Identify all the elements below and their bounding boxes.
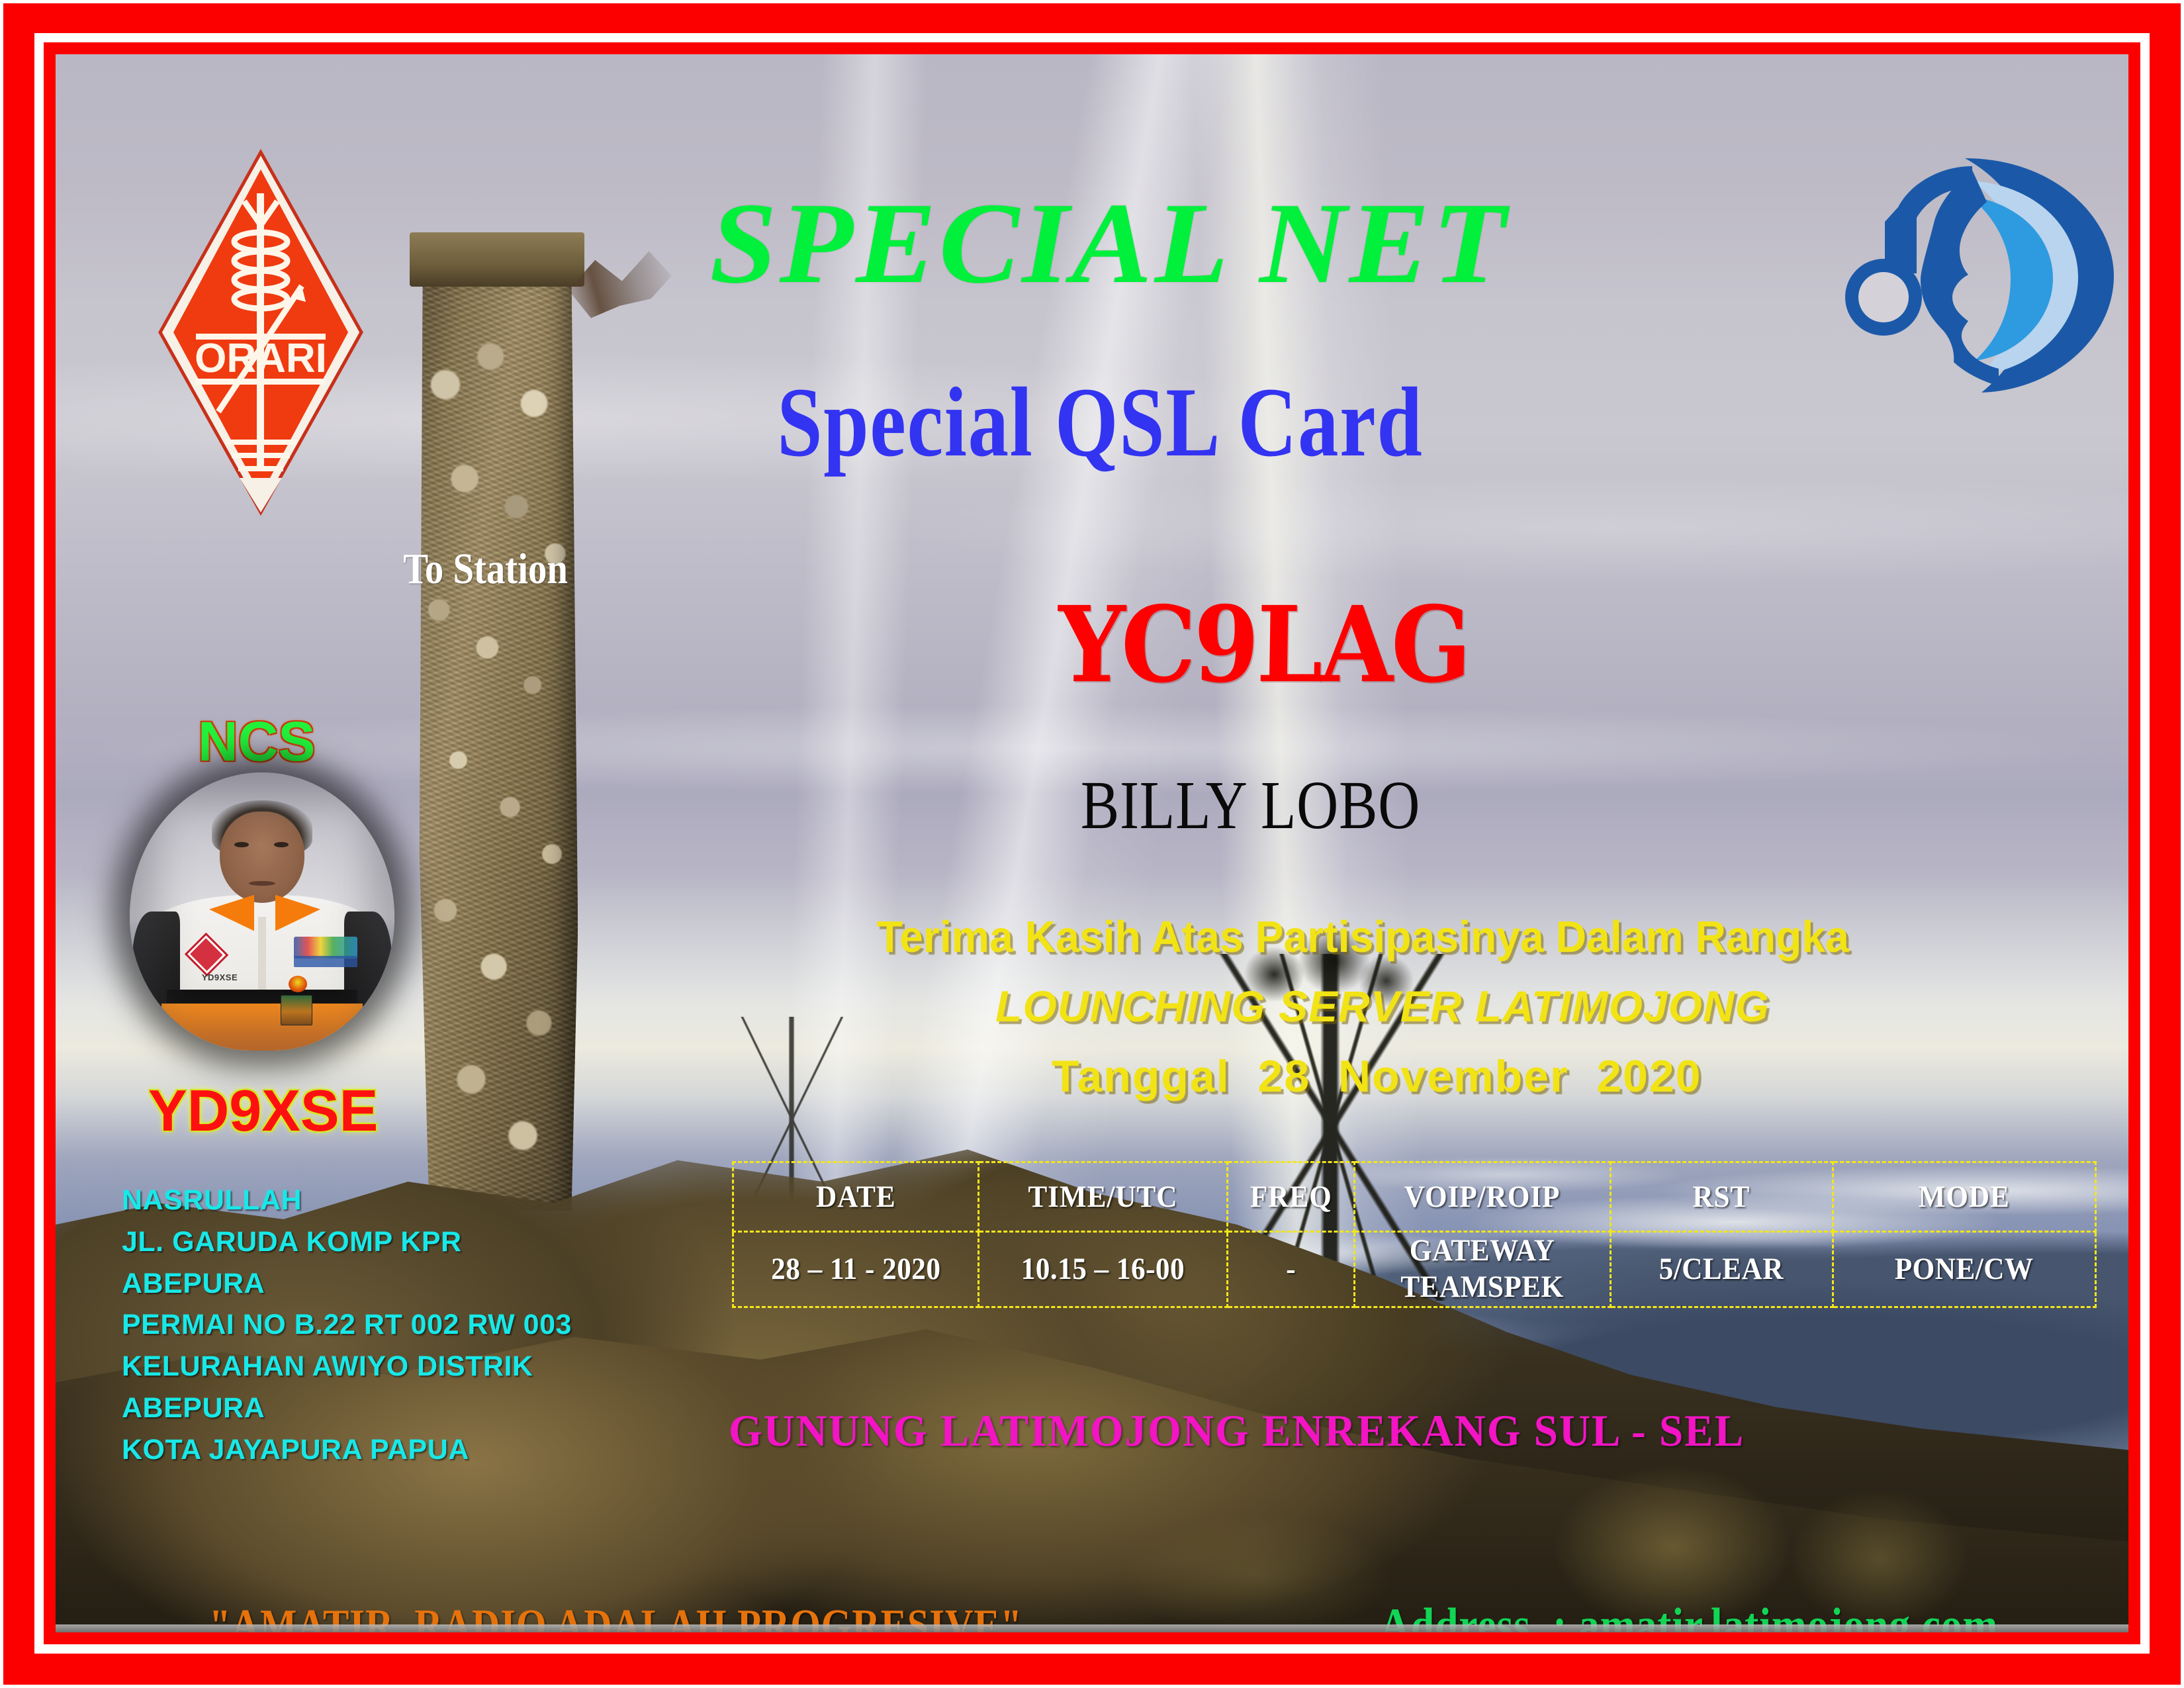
column-header-date: DATE [743,1162,968,1232]
address-line: NASRULLAH [122,1180,691,1221]
address-line: KOTA JAYAPURA PAPUA [122,1429,691,1471]
address-line: PERMAI NO B.22 RT 002 RW 003 [122,1304,691,1346]
cell-date: 28 – 11 - 2020 [743,1232,968,1307]
address-line: ABEPURA [122,1387,691,1429]
column-header-mode: MODE [1843,1162,2085,1232]
event-location-line: GUNUNG LATIMOJONG ENREKANG SUL - SEL [729,1405,1745,1457]
cell-rst: 5/CLEAR [1619,1232,1824,1307]
ncs-role-label: NCS [198,710,315,774]
column-header-rst: RST [1619,1162,1824,1232]
column-header-time-utc: TIME/UTC [988,1162,1218,1232]
photo-bottom-highlight-strip [56,1624,2128,1632]
cell-freq: - [1233,1232,1349,1307]
cell-voip-roip-line1: GATEWAY [1365,1233,1599,1269]
qso-log-table: DATE TIME/UTC FREQ VOIP/ROIP RST MODE 28… [732,1161,2097,1308]
recipient-operator-name: BILLY LOBO [1081,766,1420,845]
ncs-operator-photo: YD9XSE [130,773,394,1051]
ncs-callsign: YD9XSE [148,1077,378,1145]
address-line: ABEPURA [122,1263,691,1305]
recipient-callsign: YC9LAG [1057,584,1470,706]
page-subtitle-special-qsl-card: Special QSL Card [242,365,1942,479]
qsl-card: ORARI [0,0,2184,1688]
cell-voip-roip-line2: TEAMSPEK [1365,1269,1599,1305]
cell-mode: PONE/CW [1843,1232,2085,1307]
to-station-label: To Station [403,544,568,594]
thanks-line-1: Terima Kasih Atas Partisipasinya Dalam R… [877,912,1849,962]
column-header-freq: FREQ [1233,1162,1349,1232]
card-photo-area: ORARI [56,54,2128,1632]
cell-time-utc: 10.15 – 16-00 [988,1232,1218,1307]
address-line: KELURAHAN AWIYO DISTRIK [122,1346,691,1387]
table-header-row: DATE TIME/UTC FREQ VOIP/ROIP RST MODE [733,1162,2096,1232]
address-line: JL. GARUDA KOMP KPR [122,1221,691,1263]
cell-voip-roip: GATEWAY TEAMSPEK [1365,1232,1600,1307]
event-title-line: LOUNCHING SERVER LATIMOJONG [995,981,1770,1031]
table-row: 28 – 11 - 2020 10.15 – 16-00 - GATEWAY T… [733,1232,2096,1307]
photo-vignette [130,773,394,1051]
column-header-voip-roip: VOIP/ROIP [1365,1162,1600,1232]
page-title-special-net: SPECIAL NET [56,177,2128,310]
event-date-line: Tanggal 28 November 2020 [1052,1051,1702,1102]
station-address-block: NASRULLAH JL. GARUDA KOMP KPR ABEPURA PE… [122,1180,691,1470]
